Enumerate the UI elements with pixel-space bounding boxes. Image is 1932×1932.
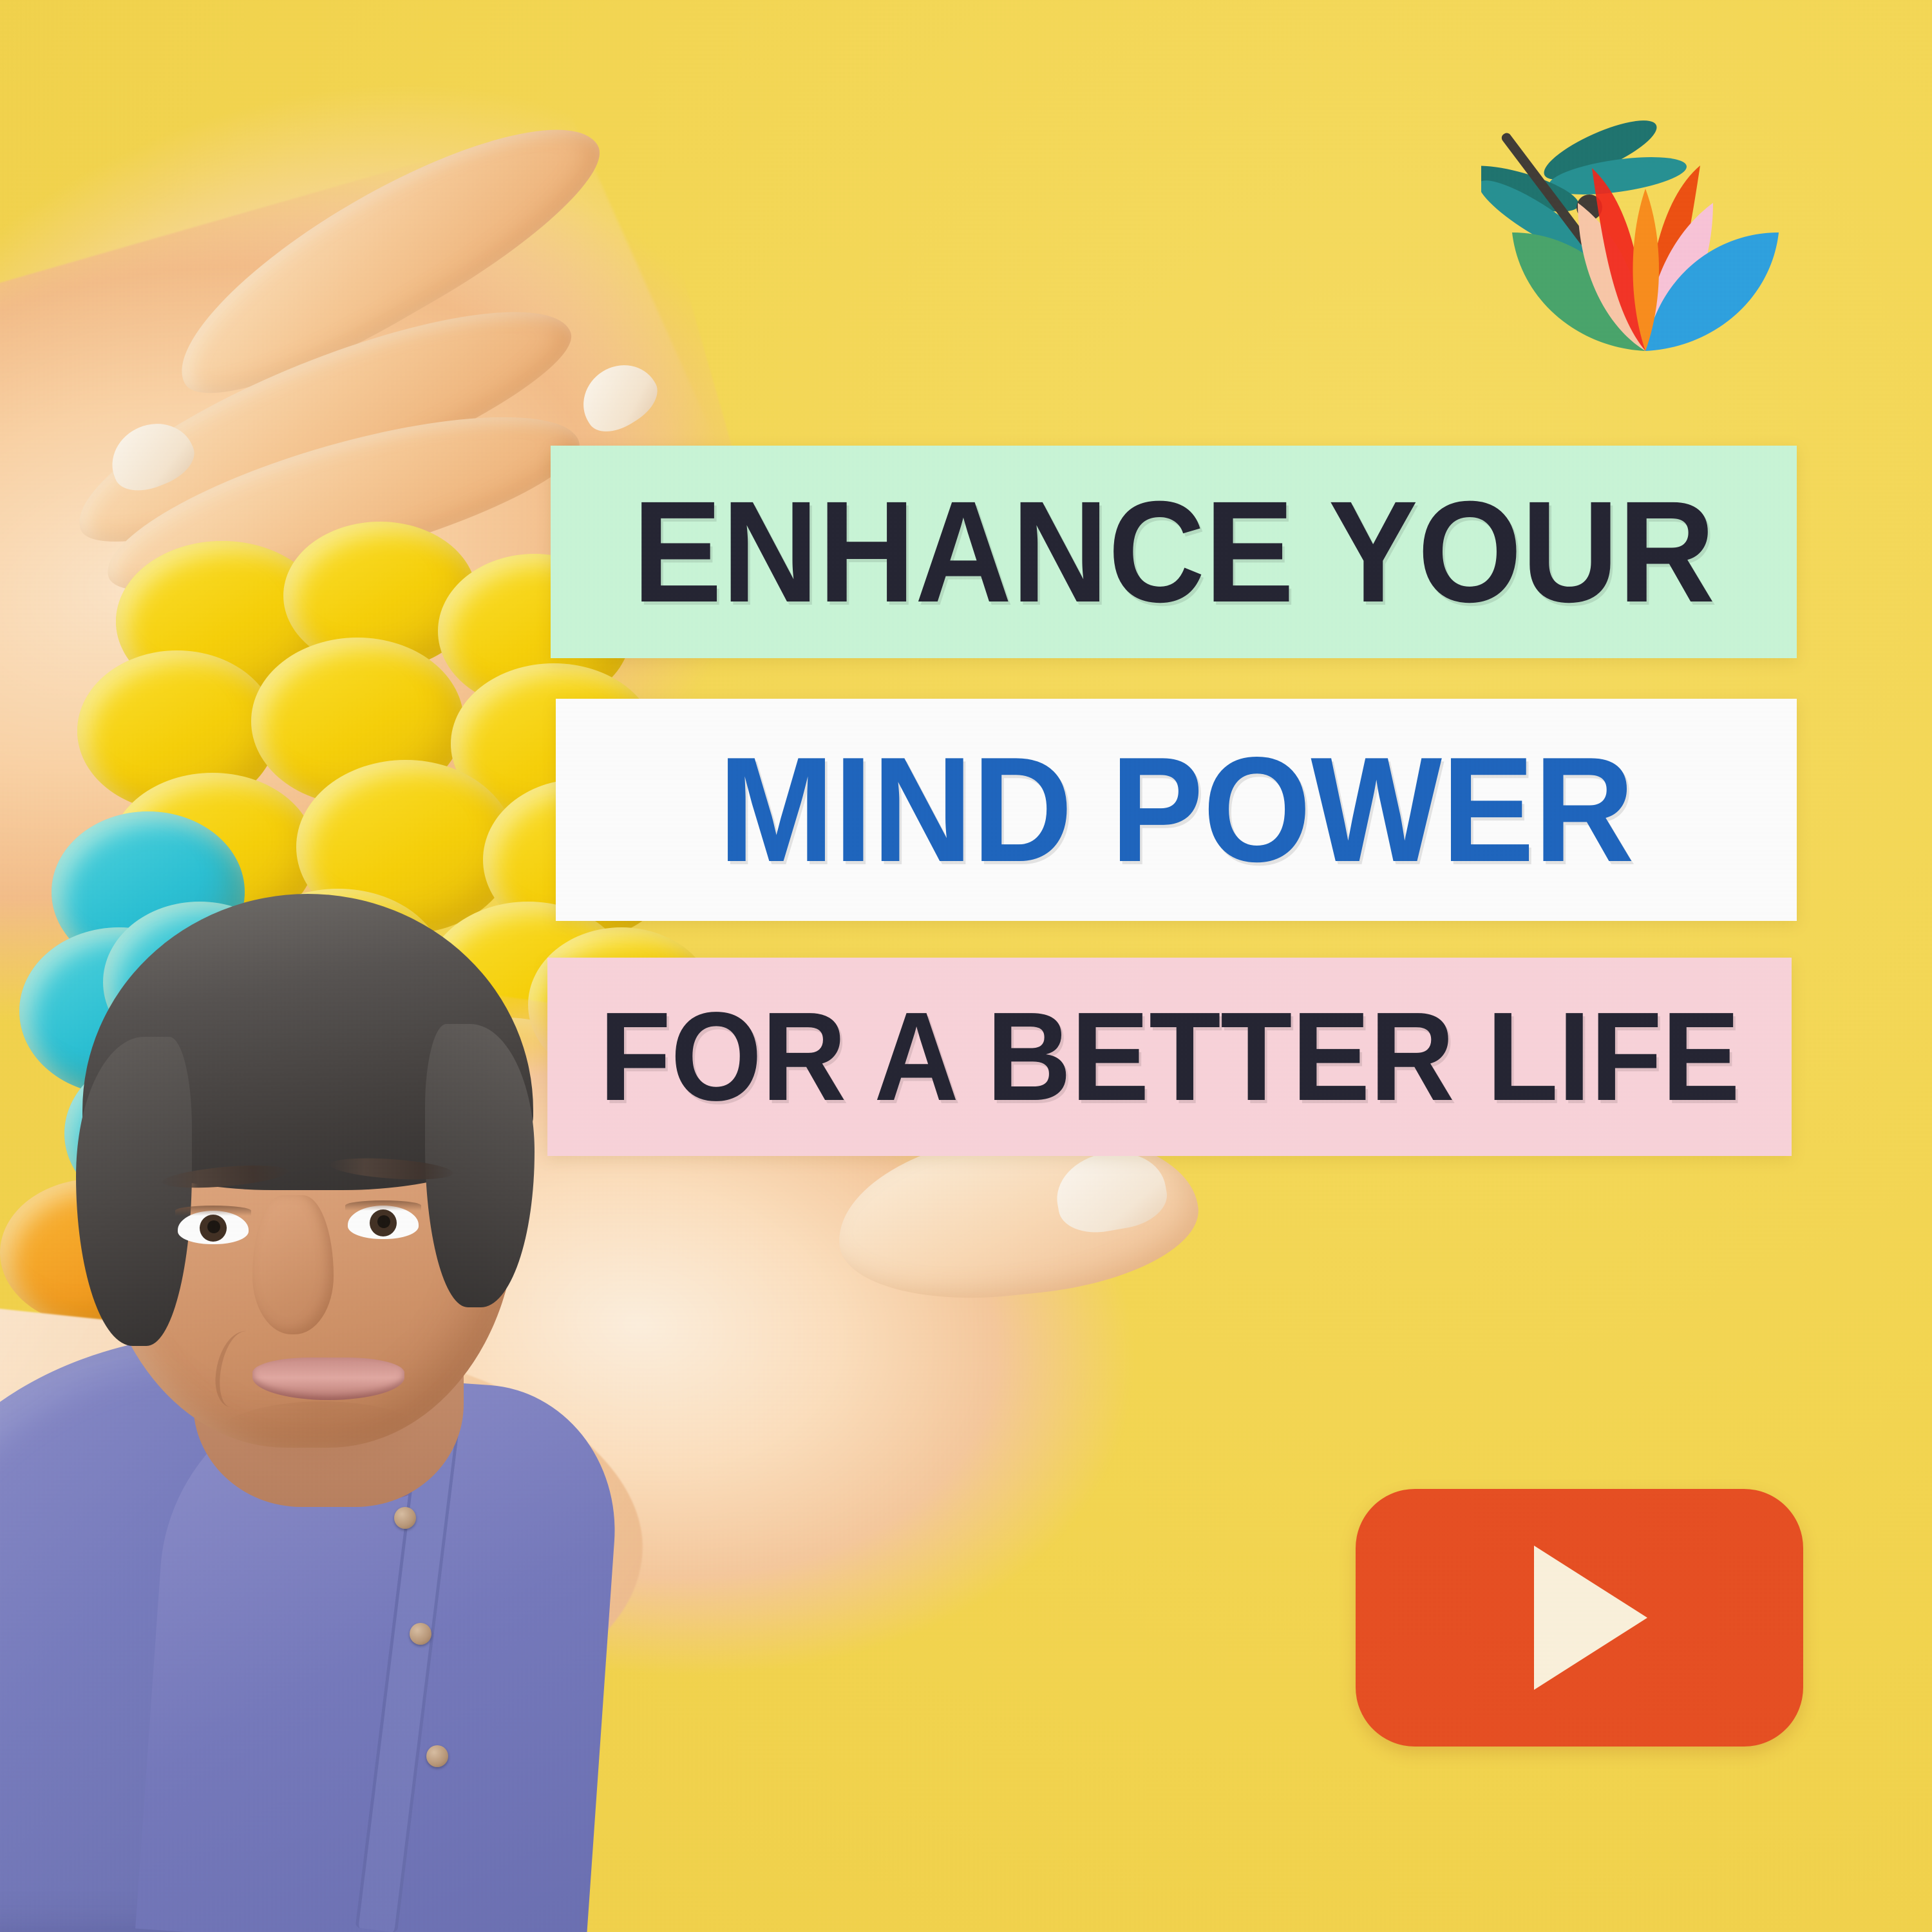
play-icon [1534, 1546, 1647, 1690]
headline-band-1: ENHANCE YOUR [551, 446, 1797, 658]
hair-right-side [425, 1024, 535, 1307]
headline-line-3: FOR A BETTER LIFE [591, 994, 1748, 1120]
eyelid-right [345, 1200, 421, 1211]
chin-shadow [213, 1401, 431, 1479]
shirt-button [426, 1745, 448, 1767]
headline-line-2: MIND POWER [599, 735, 1753, 885]
brand-logo[interactable] [1481, 106, 1810, 377]
presenter-portrait [0, 940, 683, 1932]
hair-left-side [76, 1037, 192, 1346]
headline-band-3: FOR A BETTER LIFE [547, 958, 1792, 1156]
headline-line-1: ENHANCE YOUR [594, 480, 1754, 624]
shirt-button [394, 1507, 416, 1529]
eyelid-left [175, 1206, 251, 1216]
thumbnail-canvas: ENHANCE YOUR MIND POWER FOR A BETTER LIF… [0, 0, 1932, 1932]
headline-band-2: MIND POWER [556, 699, 1797, 921]
shirt-button [410, 1623, 431, 1645]
nose [252, 1195, 334, 1334]
youtube-play-button[interactable] [1356, 1489, 1803, 1747]
